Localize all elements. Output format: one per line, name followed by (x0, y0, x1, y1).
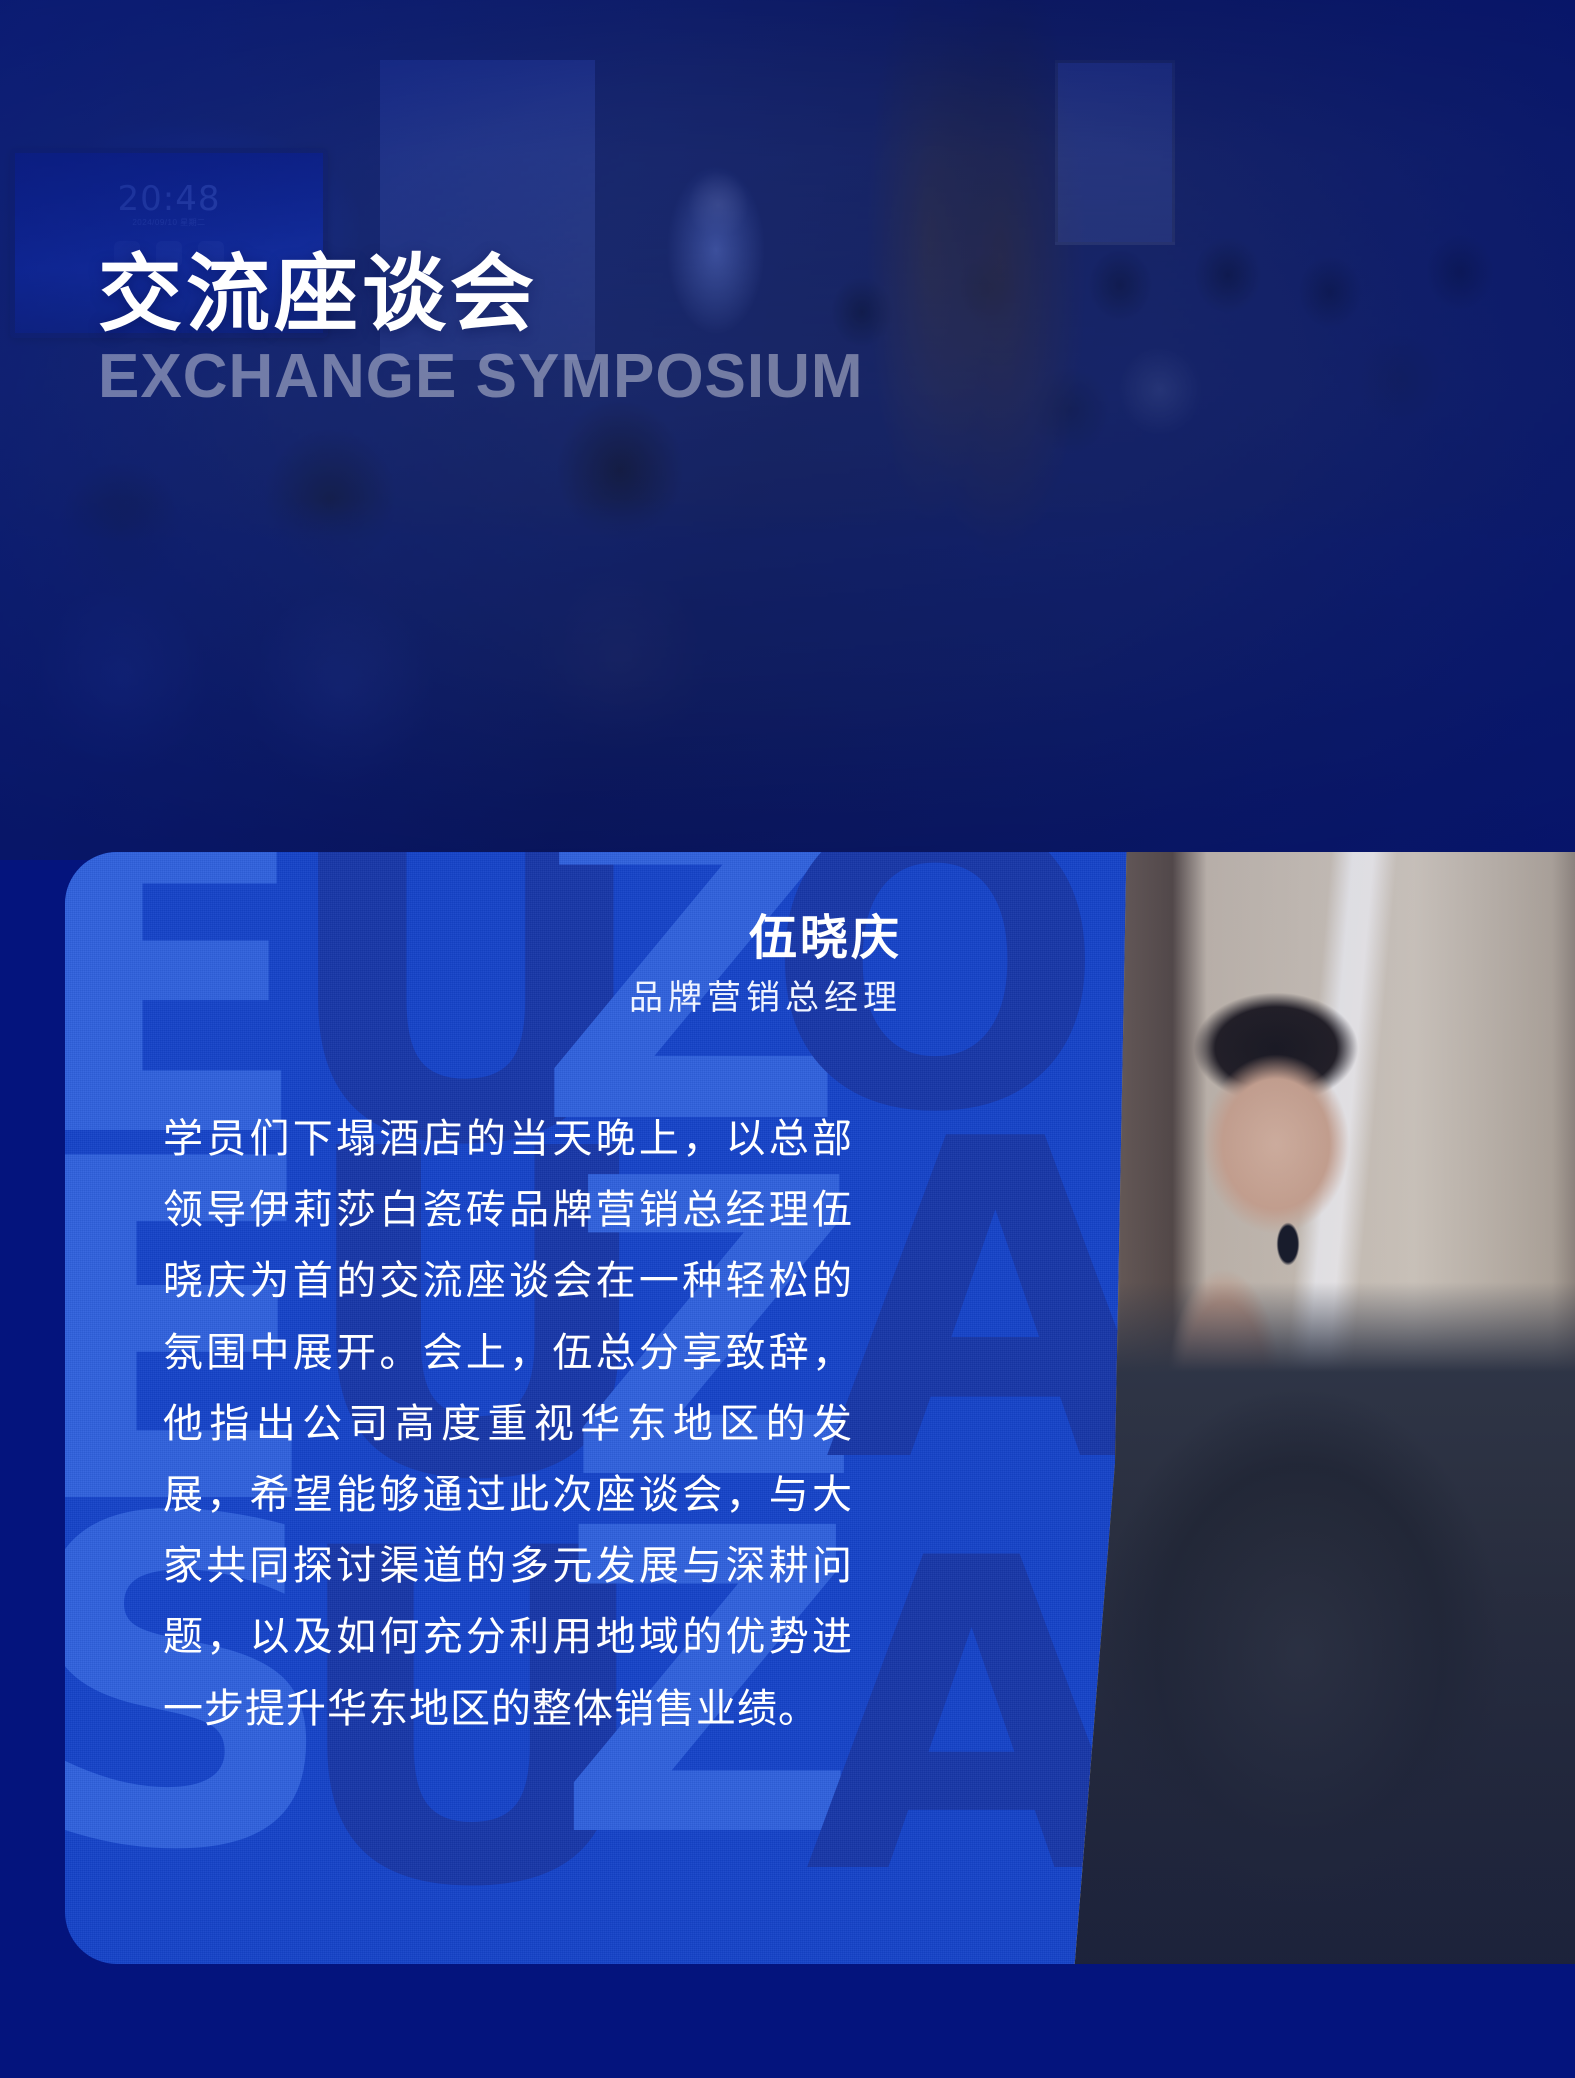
body-paragraph: 学员们下塌酒店的当天晚上，以总部领导伊莉莎白瓷砖品牌营销总经理伍晓庆为首的交流座… (163, 1104, 853, 1745)
page-title: 交流座谈会 (98, 252, 864, 338)
speaker-role: 品牌营销总经理 (65, 976, 902, 1020)
speaker-name: 伍晓庆 (65, 910, 902, 968)
hero-vignette (0, 0, 1575, 860)
hero-section: 20:48 2024/09/10 星期二 交流座谈会 EXCHANGE SYMP… (0, 0, 1575, 860)
hero-title-block: 交流座谈会 EXCHANGE SYMPOSIUM (98, 252, 864, 408)
poster-page: 20:48 2024/09/10 星期二 交流座谈会 EXCHANGE SYMP… (0, 0, 1575, 2078)
content-card: E U Z O E U Z A S U Z A 伍晓庆 品牌营销总经理 学员们下… (65, 852, 1575, 1964)
speaker-identity-block: 伍晓庆 品牌营销总经理 (65, 910, 920, 1020)
page-subtitle: EXCHANGE SYMPOSIUM (98, 346, 864, 408)
